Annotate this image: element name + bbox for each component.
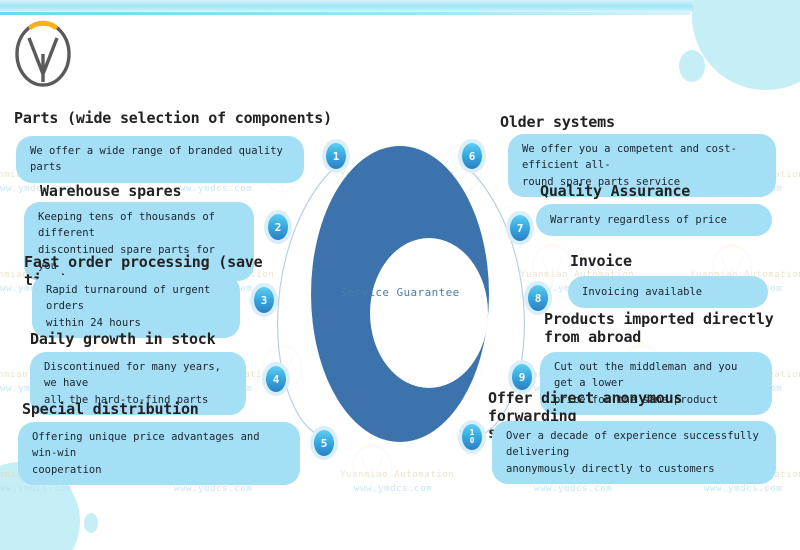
step-badge-2[interactable]: 2 (264, 210, 292, 244)
item-bubble-1[interactable]: We offer a wide range of branded quality… (16, 136, 304, 183)
item-title-6: Older systems (500, 114, 780, 132)
step-badge-number: 2 (268, 214, 288, 240)
step-badge-10[interactable]: 10 (458, 420, 486, 454)
item-title-4: Daily growth in stock (30, 331, 290, 349)
step-badge-number: 8 (528, 285, 548, 311)
item-body-3: Rapid turnaround of urgent orders within… (46, 282, 226, 331)
item-title-2: Warehouse spares (40, 183, 300, 201)
item-title-8: Invoice (570, 253, 770, 271)
item-title-5: Special distribution (22, 401, 282, 419)
step-badge-number: 9 (512, 364, 532, 390)
step-badge-number: 6 (462, 143, 482, 169)
step-badge-4[interactable]: 4 (262, 362, 290, 396)
item-title-7: Quality Assurance (540, 183, 780, 201)
step-badge-6[interactable]: 6 (458, 139, 486, 173)
step-badge-number: 5 (314, 430, 334, 456)
item-bubble-5[interactable]: Offering unique price advantages and win… (18, 422, 300, 485)
step-badge-number: 7 (510, 215, 530, 241)
step-badge-7[interactable]: 7 (506, 211, 534, 245)
item-body-10: Over a decade of experience successfully… (506, 428, 762, 477)
step-badge-number: 1 (326, 143, 346, 169)
step-badge-number: 3 (254, 287, 274, 313)
item-body-1: We offer a wide range of branded quality… (30, 143, 290, 176)
step-badge-5[interactable]: 5 (310, 426, 338, 460)
item-body-7: Warranty regardless of price (550, 212, 727, 228)
item-body-8: Invoicing available (582, 284, 702, 300)
step-badge-number: 4 (266, 366, 286, 392)
step-badge-1[interactable]: 1 (322, 139, 350, 173)
item-title-9: Products imported directly from abroad (544, 311, 792, 346)
infographic-page: Yuanmiao Automationwww.ymdcs.comYuanmiao… (0, 0, 800, 550)
item-title-1: Parts (wide selection of components) (14, 110, 334, 128)
item-body-5: Offering unique price advantages and win… (32, 429, 286, 478)
item-bubble-8[interactable]: Invoicing available (568, 276, 768, 308)
item-bubble-7[interactable]: Warranty regardless of price (536, 204, 772, 236)
item-bubble-10[interactable]: Over a decade of experience successfully… (492, 421, 776, 484)
step-badge-number: 10 (462, 424, 482, 450)
item-bubble-3[interactable]: Rapid turnaround of urgent orders within… (32, 275, 240, 338)
